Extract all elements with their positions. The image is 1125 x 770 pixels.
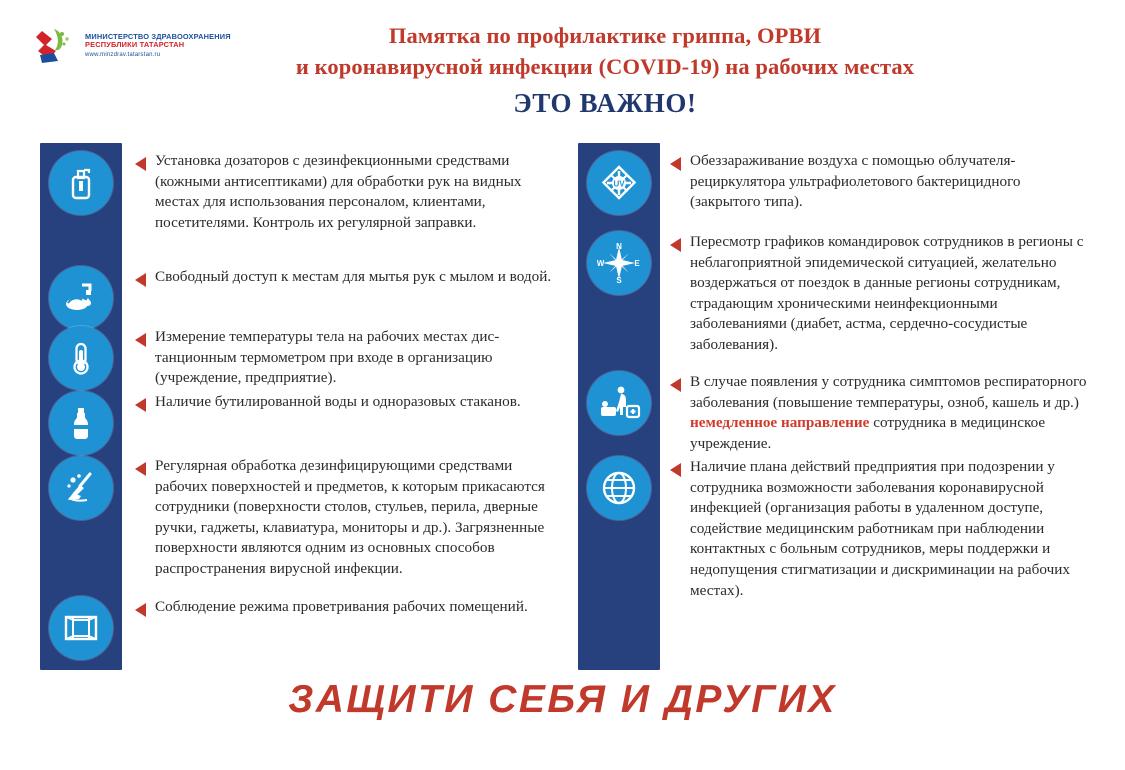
title-line-2: и коронавирусной инфекции (COVID-19) на … [255, 51, 955, 82]
list-item: В случае появления у сотрудника симптомо… [670, 372, 1090, 454]
bullet-triangle-icon [135, 273, 146, 287]
list-item-highlight: немедленное направление [690, 414, 869, 431]
tatarstan-health-ministry-logo-icon [34, 25, 78, 67]
list-item-text-before: В случае появления у сотрудника симптомо… [690, 373, 1087, 411]
svg-text:W: W [597, 259, 605, 268]
title-line-1: Памятка по профилактике гриппа, ОРВИ [255, 20, 955, 51]
svg-text:UV: UV [613, 180, 625, 189]
list-item-text: В случае появления у сотрудника симптомо… [690, 372, 1090, 454]
content-columns: Установка дозаторов с дезинфекционными с… [0, 143, 1125, 673]
list-item-text: Соблюдение режима проветривания рабочих … [155, 597, 528, 618]
open-window-ventilation-icon [49, 596, 113, 660]
svg-text:E: E [634, 259, 640, 268]
broom-cleaning-icon [49, 456, 113, 520]
bullet-triangle-icon [135, 398, 146, 412]
list-item: Установка дозаторов с дезинфекционными с… [135, 151, 560, 233]
list-item: Регулярная обработка дезинфицирующими ср… [135, 456, 560, 580]
ministry-logo: МИНИСТЕРСТВО ЗДРАВООХРАНЕНИЯ РЕСПУБЛИКИ … [34, 20, 249, 72]
bullet-triangle-icon [670, 378, 681, 392]
handwashing-tap-icon [49, 266, 113, 330]
list-item-text: Наличие бутилированной воды и одноразовы… [155, 392, 521, 413]
list-item: Обеззараживание воздуха с помощью облуча… [670, 151, 1090, 213]
thermometer-icon [49, 326, 113, 390]
list-item: Наличие бутилированной воды и одноразовы… [135, 392, 521, 413]
footer-slogan: ЗАЩИТИ СЕБЯ И ДРУГИХ [0, 678, 1125, 722]
list-item-text: Свободный доступ к местам для мытья рук … [155, 267, 551, 288]
bullet-triangle-icon [135, 157, 146, 171]
svg-text:S: S [616, 276, 622, 285]
bullet-triangle-icon [670, 463, 681, 477]
list-item-text: Регулярная обработка дезинфицирующими ср… [155, 456, 560, 580]
bullet-triangle-icon [670, 238, 681, 252]
medical-aid-patient-icon [587, 371, 651, 435]
right-icon-bar: UV N S W E [578, 143, 660, 670]
logo-line-2: РЕСПУБЛИКИ ТАТАРСТАН [85, 41, 231, 49]
page-title: Памятка по профилактике гриппа, ОРВИ и к… [255, 20, 955, 119]
list-item-text: Установка дозаторов с дезинфекционными с… [155, 151, 560, 233]
list-item: Пересмотр графиков командировок сотрудни… [670, 232, 1090, 356]
list-item-text: Обеззараживание воздуха с помощью облуча… [690, 151, 1090, 213]
list-item: Свободный доступ к местам для мытья рук … [135, 267, 551, 288]
globe-icon [587, 456, 651, 520]
uv-lamp-icon: UV [587, 151, 651, 215]
water-bottle-icon [49, 391, 113, 455]
list-item: Измерение температуры тела на рабочих ме… [135, 327, 560, 389]
list-item-text: Измерение температуры тела на рабочих ме… [155, 327, 560, 389]
logo-url: www.minzdrav.tatarstan.ru [85, 52, 231, 59]
list-item: Соблюдение режима проветривания рабочих … [135, 597, 528, 618]
poster-header: МИНИСТЕРСТВО ЗДРАВООХРАНЕНИЯ РЕСПУБЛИКИ … [0, 0, 1125, 128]
list-item: Наличие плана действий предприятия при п… [670, 457, 1090, 601]
bullet-triangle-icon [135, 603, 146, 617]
title-subtitle: ЭТО ВАЖНО! [255, 88, 955, 119]
bullet-triangle-icon [135, 462, 146, 476]
sanitizer-dispenser-icon [49, 151, 113, 215]
list-item-text: Наличие плана действий предприятия при п… [690, 457, 1090, 601]
svg-text:N: N [616, 242, 622, 251]
bullet-triangle-icon [670, 157, 681, 171]
infographic-poster: МИНИСТЕРСТВО ЗДРАВООХРАНЕНИЯ РЕСПУБЛИКИ … [0, 0, 1125, 770]
bullet-triangle-icon [135, 333, 146, 347]
list-item-text: Пересмотр графиков командировок сотрудни… [690, 232, 1090, 356]
left-icon-bar [40, 143, 122, 670]
compass-rose-icon: N S W E [587, 231, 651, 295]
